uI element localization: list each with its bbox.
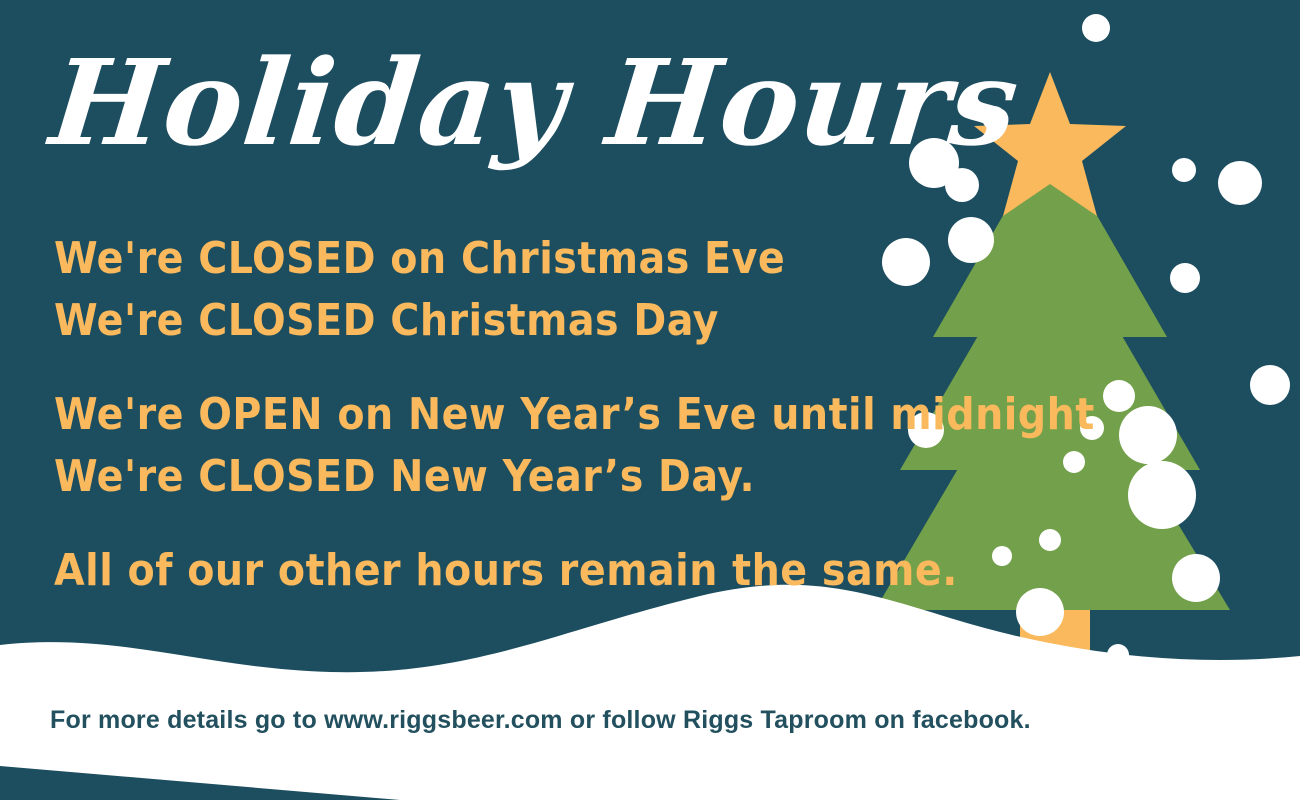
announcement-line: We're CLOSED Christmas Day	[54, 290, 1094, 352]
announcement-list: We're CLOSED on Christmas Eve We're CLOS…	[54, 228, 1094, 602]
announcement-group-other-hours: All of our other hours remain the same.	[54, 540, 1094, 602]
announcement-group-new-year: We're OPEN on New Year’s Eve until midni…	[54, 384, 1094, 508]
announcement-line: We're OPEN on New Year’s Eve until midni…	[54, 384, 1094, 446]
footer-note: For more details go to www.riggsbeer.com…	[50, 706, 1031, 735]
announcement-line: We're CLOSED on Christmas Eve	[54, 228, 1094, 290]
announcement-line: We're CLOSED New Year’s Day.	[54, 446, 1094, 508]
page-title: Holiday Hours	[46, 44, 1024, 162]
announcement-line: All of our other hours remain the same.	[54, 540, 1094, 602]
corner-wedge	[0, 755, 420, 800]
announcement-group-christmas: We're CLOSED on Christmas Eve We're CLOS…	[54, 228, 1094, 352]
holiday-hours-poster: Holiday Hours We're CLOSED on Christmas …	[0, 0, 1300, 800]
